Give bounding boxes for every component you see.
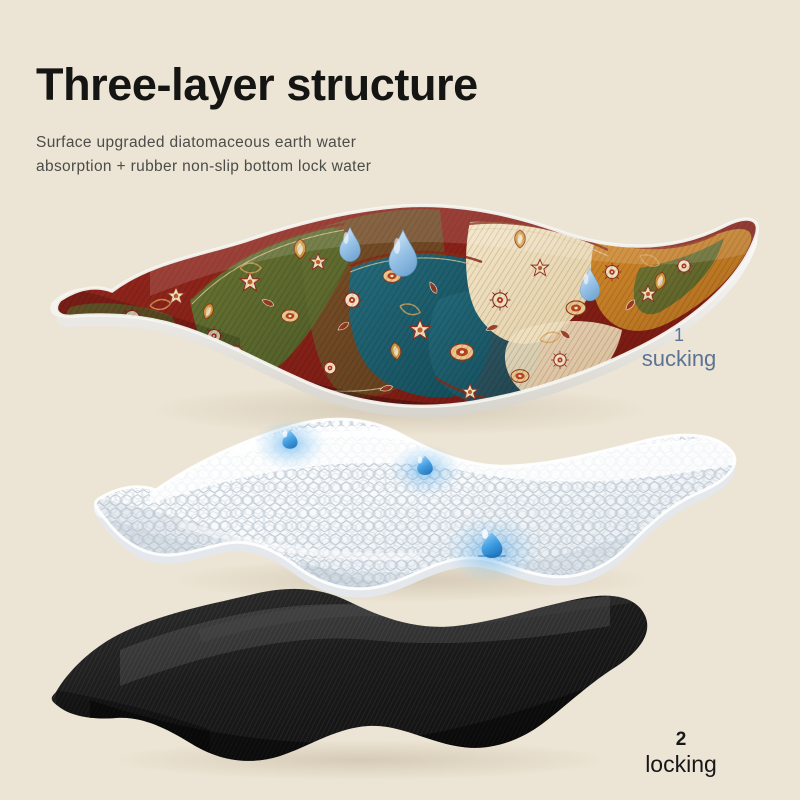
- callout-sucking: 1 sucking: [622, 325, 736, 372]
- callout-locking-number: 2: [624, 729, 738, 751]
- page-subtitle: Surface upgraded diatomaceous earth wate…: [36, 131, 371, 180]
- page-title: Three-layer structure: [36, 62, 478, 107]
- callout-locking-label: locking: [624, 751, 738, 778]
- infographic-canvas: Three-layer structure Surface upgraded d…: [0, 0, 800, 800]
- background-wash: [0, 0, 800, 800]
- callout-sucking-label: sucking: [622, 346, 736, 372]
- callout-sucking-number: 1: [622, 325, 736, 346]
- callout-locking: 2 locking: [624, 729, 738, 779]
